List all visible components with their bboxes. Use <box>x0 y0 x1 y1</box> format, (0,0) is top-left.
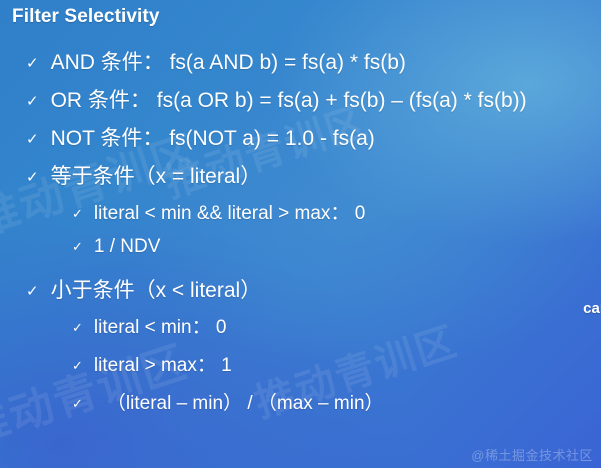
bullet-item: ✓ 等于条件（x = literal） <box>0 160 601 198</box>
bullet-item: ✓ literal > max： 1 <box>0 350 601 388</box>
check-icon: ✓ <box>72 321 83 334</box>
check-icon: ✓ <box>72 359 83 372</box>
site-watermark: @稀土掘金技术社区 <box>471 445 593 464</box>
bullet-item: ✓ （literal – min） / （max – min） <box>0 388 601 426</box>
presentation-slide: 推动青训区 推动青训区 推动青训区 推动青训区 Filter Selectivi… <box>0 0 601 468</box>
bullet-item: ✓ literal < min： 0 <box>0 312 601 350</box>
check-icon: ✓ <box>72 207 83 220</box>
bullet-item: ✓ OR 条件： fs(a OR b) = fs(a) + fs(b) – (f… <box>0 84 601 122</box>
bullet-text: literal < min： 0 <box>94 312 227 339</box>
bullet-text: literal < min && literal > max： 0 <box>94 198 365 225</box>
bullet-text: literal > max： 1 <box>94 350 232 377</box>
bullet-text: NOT 条件： fs(NOT a) = 1.0 - fs(a) <box>51 122 375 152</box>
check-icon: ✓ <box>26 170 39 185</box>
check-icon: ✓ <box>26 284 39 299</box>
clipped-edge-text: can <box>583 300 601 317</box>
bullet-item: ✓ 1 / NDV <box>0 236 601 274</box>
slide-title: Filter Selectivity <box>12 6 160 28</box>
bullet-text: 等于条件（x = literal） <box>51 160 262 190</box>
check-icon: ✓ <box>26 94 39 109</box>
bullet-item: ✓ 小于条件（x < literal） <box>0 274 601 312</box>
bullet-text: （literal – min） / （max – min） <box>107 388 384 415</box>
bullet-list: ✓ AND 条件： fs(a AND b) = fs(a) * fs(b) ✓ … <box>0 46 601 426</box>
bullet-text: AND 条件： fs(a AND b) = fs(a) * fs(b) <box>51 46 406 76</box>
check-icon: ✓ <box>26 56 39 71</box>
bullet-text: 1 / NDV <box>94 236 161 258</box>
check-icon: ✓ <box>72 397 83 410</box>
bullet-item: ✓ AND 条件： fs(a AND b) = fs(a) * fs(b) <box>0 46 601 84</box>
bullet-text: OR 条件： fs(a OR b) = fs(a) + fs(b) – (fs(… <box>51 84 527 114</box>
check-icon: ✓ <box>72 240 83 253</box>
check-icon: ✓ <box>26 132 39 147</box>
bullet-item: ✓ literal < min && literal > max： 0 <box>0 198 601 236</box>
bullet-text: 小于条件（x < literal） <box>51 274 262 304</box>
bullet-item: ✓ NOT 条件： fs(NOT a) = 1.0 - fs(a) <box>0 122 601 160</box>
